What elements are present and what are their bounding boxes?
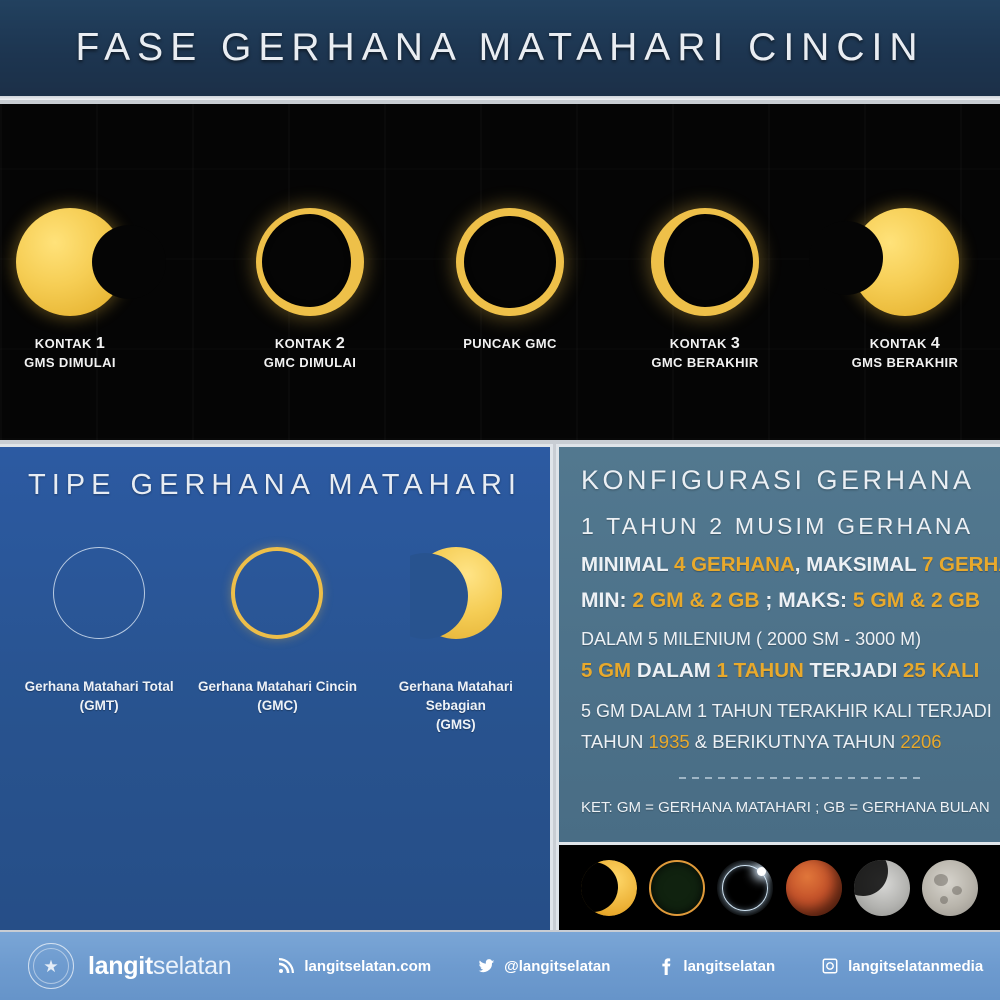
eclipse-types-panel: TIPE GERHANA MATAHARI Gerhana Matahari T… [0,444,553,930]
annular-solar-eclipse-photo [649,860,705,916]
eclipse-types-list: Gerhana Matahari Total (GMT) Gerhana Mat… [10,547,545,734]
eclipse-configuration-panel: KONFIGURASI GERHANA 1 TAHUN 2 MUSIM GERH… [556,444,1000,842]
phase-label-3: PUNCAK GMC [463,336,557,351]
phase-item-1: KONTAK 1 GMS DIMULAI [0,104,170,440]
link-facebook-label: langitselatan [683,958,775,975]
annular-ring-thin-right-icon [256,208,364,316]
phase-contact-number-5: 4 [931,335,940,352]
infographic-page: FASE GERHANA MATAHARI CINCIN KONTAK 1 GM… [0,0,1000,1000]
phase-label-5: GMS BERAKHIR [852,355,959,370]
config-line-1: 1 TAHUN 2 MUSIM GERHANA [581,513,995,540]
facebook-icon [656,957,674,975]
gold-ring-icon [231,547,323,639]
legend-note: KET: GM = GERHANA MATAHARI ; GB = GERHAN… [581,799,995,816]
partial-sun-left-bite-icon [851,208,959,316]
total-solar-eclipse-diamond-ring-photo [717,860,773,916]
phase-item-2: KONTAK 2 GMC DIMULAI [210,104,410,440]
link-facebook[interactable]: langitselatan [656,957,775,975]
eclipse-type-annular: Gerhana Matahari Cincin (GMC) [192,547,362,715]
rss-icon [277,957,295,975]
social-links: langitselatan.com @langitselatan langits… [231,957,983,975]
phase-contact-label-5: KONTAK [870,336,927,351]
phase-contact-label-1: KONTAK [35,336,92,351]
phase-caption-2: KONTAK 2 GMC DIMULAI [264,334,357,372]
total-lunar-eclipse-blood-moon-photo [786,860,842,916]
phase-item-5: KONTAK 4 GMS BERAKHIR [805,104,1000,440]
phase-caption-1: KONTAK 1 GMS DIMULAI [24,334,116,372]
phase-item-3: PUNCAK GMC [410,104,610,440]
brand-light-text: selatan [153,952,232,980]
annular-ring-thin-left-icon [651,208,759,316]
outline-circle-icon [53,547,145,639]
phase-label-2: GMC DIMULAI [264,355,357,370]
phase-item-4: KONTAK 3 GMC BERAKHIR [605,104,805,440]
partial-solar-eclipse-photo [581,860,637,916]
link-website-label: langitselatan.com [304,958,431,975]
link-twitter-label: @langitselatan [504,958,610,975]
partial-sun-right-bite-icon [16,208,124,316]
instagram-icon [821,957,839,975]
twitter-icon [477,957,495,975]
link-instagram-label: langitselatanmedia [848,958,983,975]
eclipse-type-annular-label: Gerhana Matahari Cincin (GMC) [198,677,357,715]
brand-logo[interactable]: ★ langitselatan [28,943,231,989]
eclipse-type-partial-label: Gerhana Matahari Sebagian (GMS) [371,677,541,734]
page-title: FASE GERHANA MATAHARI CINCIN [0,0,1000,96]
config-line-4: DALAM 5 MILENIUM ( 2000 SM - 3000 M) [581,629,995,650]
eclipse-type-partial: Gerhana Matahari Sebagian (GMS) [371,547,541,734]
phase-caption-5: KONTAK 4 GMS BERAKHIR [852,334,959,372]
phase-caption-3: PUNCAK GMC [463,334,557,353]
config-line-2: MINIMAL 4 GERHANA, MAKSIMAL 7 GERHANA [581,553,995,577]
phase-label-4: GMC BERAKHIR [651,355,758,370]
gold-crescent-icon [410,547,502,639]
eclipse-types-title: TIPE GERHANA MATAHARI [0,469,550,502]
phase-contact-label-4: KONTAK [670,336,727,351]
config-line-3: MIN: 2 GM & 2 GB ; MAKS: 5 GM & 2 GB [581,589,995,613]
link-instagram[interactable]: langitselatanmedia [821,957,983,975]
phase-contact-number-1: 1 [96,335,105,352]
config-line-5: 5 GM DALAM 1 TAHUN TERJADI 25 KALI [581,659,995,683]
link-website[interactable]: langitselatan.com [277,957,431,975]
phase-contact-label-2: KONTAK [275,336,332,351]
phase-contact-number-2: 2 [336,335,345,352]
phase-label-1: GMS DIMULAI [24,355,116,370]
footer-bar: ★ langitselatan langitselatan.com [0,932,1000,1000]
eclipse-photo-strip [556,842,1000,930]
phase-contact-number-4: 3 [731,335,740,352]
full-moon-photo [922,860,978,916]
brand-bold-text: langit [88,952,153,980]
annular-ring-even-icon [456,208,564,316]
langitselatan-seal-icon: ★ [28,943,74,989]
brand-wordmark: langitselatan [88,952,231,981]
header-banner: FASE GERHANA MATAHARI CINCIN [0,0,1000,100]
right-panel-divider [679,777,925,779]
eclipse-configuration-title: KONFIGURASI GERHANA [581,465,975,496]
eclipse-type-total: Gerhana Matahari Total (GMT) [14,547,184,715]
config-line-6: 5 GM DALAM 1 TAHUN TERAKHIR KALI TERJADI [581,701,995,722]
config-line-7: TAHUN 1935 & BERIKUTNYA TAHUN 2206 [581,731,995,753]
phase-caption-4: KONTAK 3 GMC BERAKHIR [651,334,758,372]
eclipse-type-total-label: Gerhana Matahari Total (GMT) [25,677,174,715]
partial-lunar-eclipse-photo [854,860,910,916]
link-twitter[interactable]: @langitselatan [477,957,610,975]
eclipse-phases-section: KONTAK 1 GMS DIMULAI KONTAK 2 GMC DIMULA… [0,104,1000,440]
seal-glyph: ★ [43,958,58,975]
